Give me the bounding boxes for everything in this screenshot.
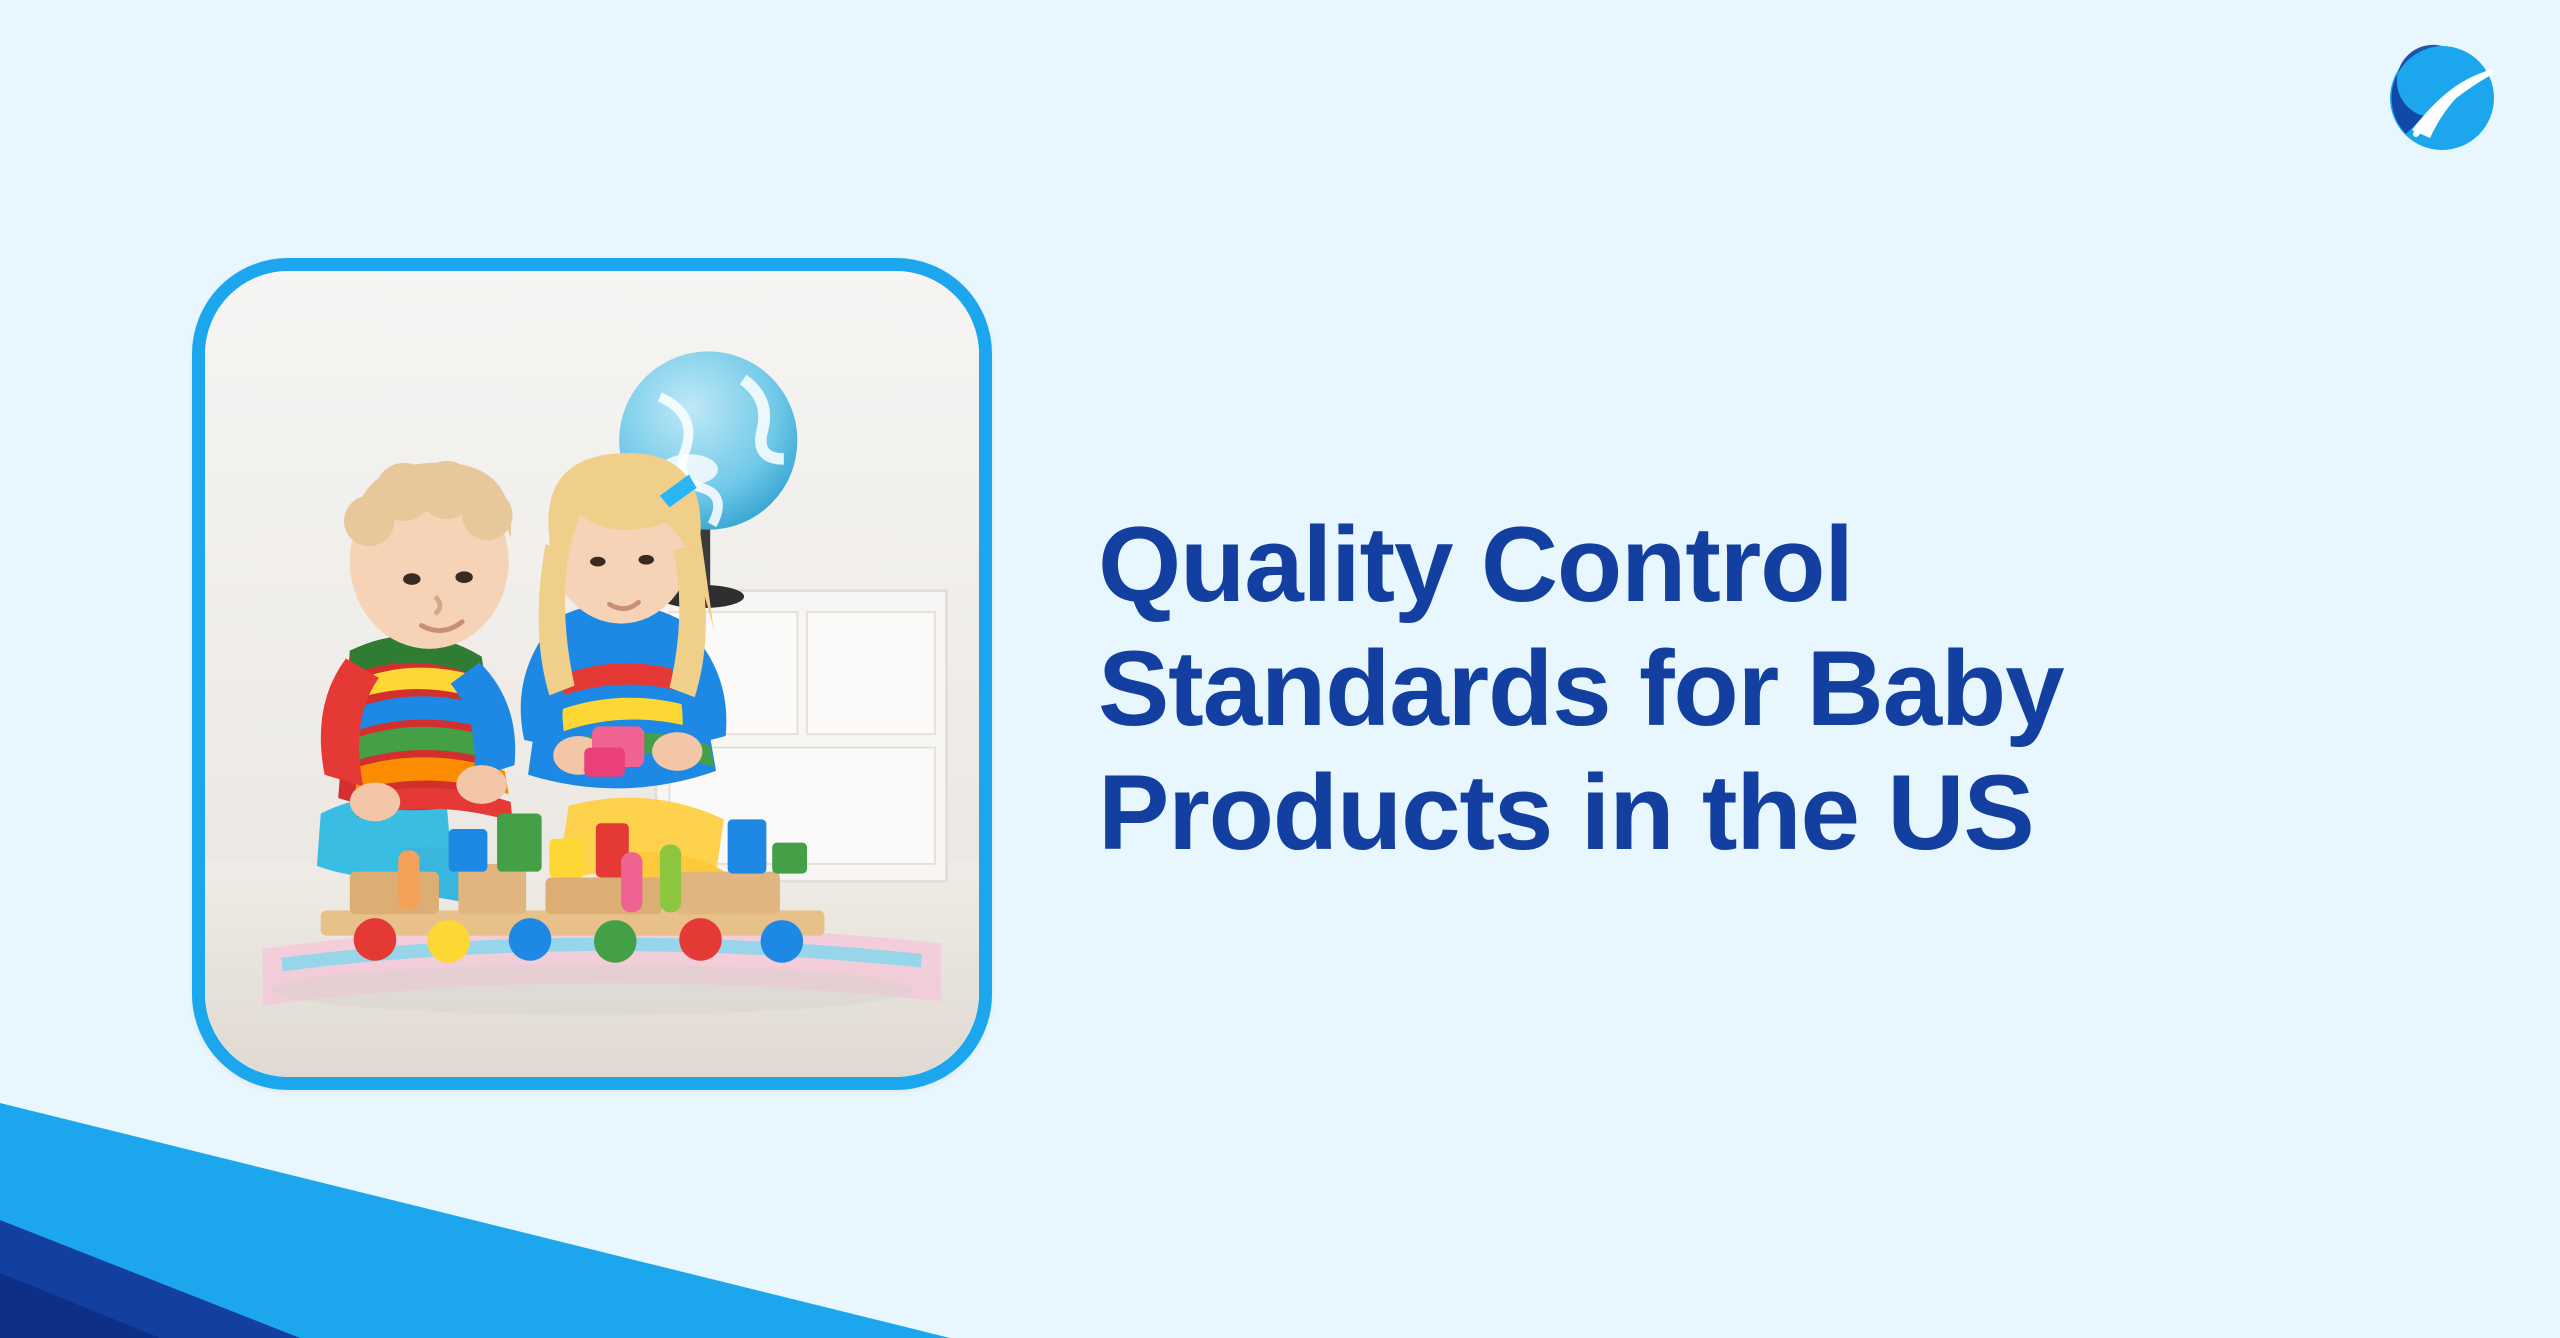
photo-illustration (205, 271, 979, 1077)
banner-root: Quality Control Standards for Baby Produ… (0, 0, 2560, 1338)
decoration-shape-deep-blue (0, 1273, 160, 1338)
decoration-shape-light-blue (0, 1103, 950, 1338)
photo-image (205, 271, 979, 1077)
swoosh-logo-svg (2386, 42, 2498, 154)
page-title: Quality Control Standards for Baby Produ… (1098, 502, 2428, 874)
headline-line-3: Products in the US (1098, 750, 2428, 874)
headline-line-1: Quality Control (1098, 502, 2428, 626)
headline-line-2: Standards for Baby (1098, 626, 2428, 750)
photo-card (192, 258, 992, 1090)
decoration-shape-dark-blue (0, 1220, 300, 1338)
swoosh-logo-icon (2386, 42, 2498, 154)
